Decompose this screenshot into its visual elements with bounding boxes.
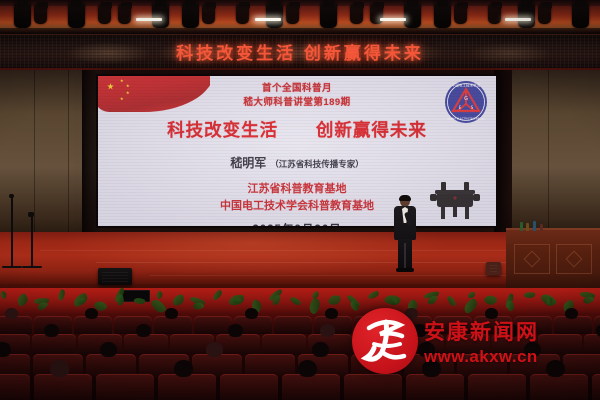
mic-capsule-icon <box>28 212 34 217</box>
plant-leaf <box>15 293 30 307</box>
audience-member <box>85 308 98 319</box>
water-bottle <box>526 223 529 231</box>
spotlight-fixture <box>488 4 501 24</box>
mic-stand-base <box>22 266 42 268</box>
spotlight-fixture <box>68 2 85 28</box>
spotlight-fixture <box>34 4 47 24</box>
audience-member <box>320 324 335 337</box>
spotlight-fixture <box>518 2 535 28</box>
audience-member <box>50 360 69 377</box>
audience-member <box>206 342 223 357</box>
slide-date: 2025年9月26日 <box>252 221 341 226</box>
theater-seat <box>124 334 168 355</box>
slide-base-line1: 江苏省科普教育基地 <box>220 181 374 198</box>
spotlight-fixture <box>266 2 283 28</box>
slide-base-line2: 中国电工技术学会科普教育基地 <box>220 198 374 215</box>
audience-member <box>136 324 151 337</box>
wall-seam <box>548 70 549 245</box>
plant-leaf <box>77 297 85 304</box>
spotlight-fixture <box>320 2 337 28</box>
slide-kicker-line1: 首个全国科普月 <box>243 82 350 96</box>
plant-leaf <box>0 291 8 300</box>
audience-member <box>298 360 317 377</box>
akxw-logo-icon <box>352 308 418 374</box>
slide-bases: 江苏省科普教育基地 中国电工技术学会科普教育基地 <box>220 181 374 215</box>
spotlight-fixture <box>434 2 451 28</box>
wooden-podium <box>506 228 600 290</box>
led-banner-text: 科技改变生活 创新赢得未来 <box>176 39 424 64</box>
spotlight-fixture <box>202 4 215 24</box>
audience-member <box>596 324 600 337</box>
spotlight-fixture <box>370 4 383 24</box>
wall-seam <box>68 70 69 245</box>
slide-speaker-affiliation: （江苏省科技传播专家） <box>270 158 364 170</box>
plant-leaf <box>367 291 379 299</box>
theater-seat <box>0 316 32 334</box>
tube-light-icon <box>380 18 406 21</box>
projection-screen: G E S 中国电工技术学会 CHINA ELECTROTECHNICAL 首个… <box>98 76 496 226</box>
slide-title: 科技改变生活 创新赢得未来 <box>167 117 427 142</box>
theater-seat <box>158 374 216 400</box>
audience-member <box>44 324 59 337</box>
audience-member <box>228 324 243 337</box>
slide-title-left: 科技改变生活 <box>167 120 278 140</box>
theater-seat <box>34 374 92 400</box>
mic-stand-base <box>2 266 22 268</box>
water-bottle <box>540 224 543 231</box>
spotlight-fixture <box>404 2 421 28</box>
plant-leaf <box>272 295 280 306</box>
mic-stand-icon <box>31 215 33 266</box>
mic-stand-icon <box>11 196 13 266</box>
audience-member <box>174 360 193 377</box>
plant-leaf <box>172 294 184 306</box>
watermark-site-name: 安康新闻网 <box>424 316 539 346</box>
audience-member <box>165 308 178 319</box>
auditorium-photo: 科技改变生活 创新赢得未来 G E S 中国电工技术学会 CHINA ELECT… <box>0 0 600 400</box>
water-bottle <box>520 222 523 231</box>
spotlight-fixture <box>454 4 467 24</box>
stage-marking-line <box>40 250 560 251</box>
truss-rail <box>0 0 600 6</box>
audience-member <box>5 308 18 319</box>
spotlight-fixture <box>350 4 363 24</box>
theater-seat <box>262 334 306 355</box>
presenter-figure <box>392 196 418 274</box>
plant-leaf <box>328 294 341 307</box>
audience-member <box>245 308 258 319</box>
plant-leaf <box>133 296 145 305</box>
slide-speaker: 嵇明军 （江苏省科技传播专家） <box>230 154 364 171</box>
slide-title-right: 创新赢得未来 <box>316 120 427 140</box>
watermark: 安康新闻网 www.akxw.cn <box>352 302 596 380</box>
spotlight-fixture <box>538 4 551 24</box>
spotlight-fixture <box>182 2 199 28</box>
stage-marking-line <box>150 275 510 276</box>
plant-leaf <box>116 294 126 306</box>
plant-leaf <box>155 290 164 299</box>
spotlight-fixture <box>572 2 589 28</box>
theater-seat <box>220 374 278 400</box>
theater-seat <box>32 334 76 355</box>
watermark-url: www.akxw.cn <box>424 347 539 367</box>
stage-prop-box <box>486 262 501 275</box>
stage-monitor-speaker-left <box>98 268 132 285</box>
audience-member <box>312 342 329 357</box>
theater-seat <box>96 374 154 400</box>
theater-seat <box>194 316 232 334</box>
tube-light-icon <box>136 18 162 21</box>
bronze-ding-icon <box>428 180 482 220</box>
plant-leaf <box>468 292 475 298</box>
slide-speaker-name: 嵇明军 <box>230 154 266 171</box>
led-banner: 科技改变生活 创新赢得未来 <box>0 34 600 70</box>
theater-seat <box>282 374 340 400</box>
spotlight-fixture <box>98 4 111 24</box>
audience-member <box>325 308 338 319</box>
mic-capsule-icon <box>9 194 14 198</box>
wall-seam <box>34 70 35 245</box>
water-bottle <box>533 221 536 231</box>
theater-seat <box>274 316 312 334</box>
slide-kicker: 首个全国科普月 嵇大师科普讲堂第189期 <box>243 82 350 110</box>
theater-seat <box>0 374 30 400</box>
tube-light-icon <box>505 18 531 21</box>
plant-leaf <box>311 291 320 299</box>
spotlight-fixture <box>236 4 249 24</box>
stage-marking-line <box>96 262 536 263</box>
slide-kicker-line2: 嵇大师科普讲堂第189期 <box>243 96 350 110</box>
spotlight-fixture <box>152 2 169 28</box>
wall-panel-right <box>512 70 600 245</box>
plant-leaf <box>289 295 301 307</box>
spotlight-fixture <box>118 4 131 24</box>
plant-leaf <box>524 291 536 299</box>
audience-member <box>100 342 117 357</box>
stage-drape-right <box>494 70 512 245</box>
spotlight-fixture <box>14 2 31 28</box>
tube-light-icon <box>255 18 281 21</box>
spotlight-fixture <box>286 4 299 24</box>
